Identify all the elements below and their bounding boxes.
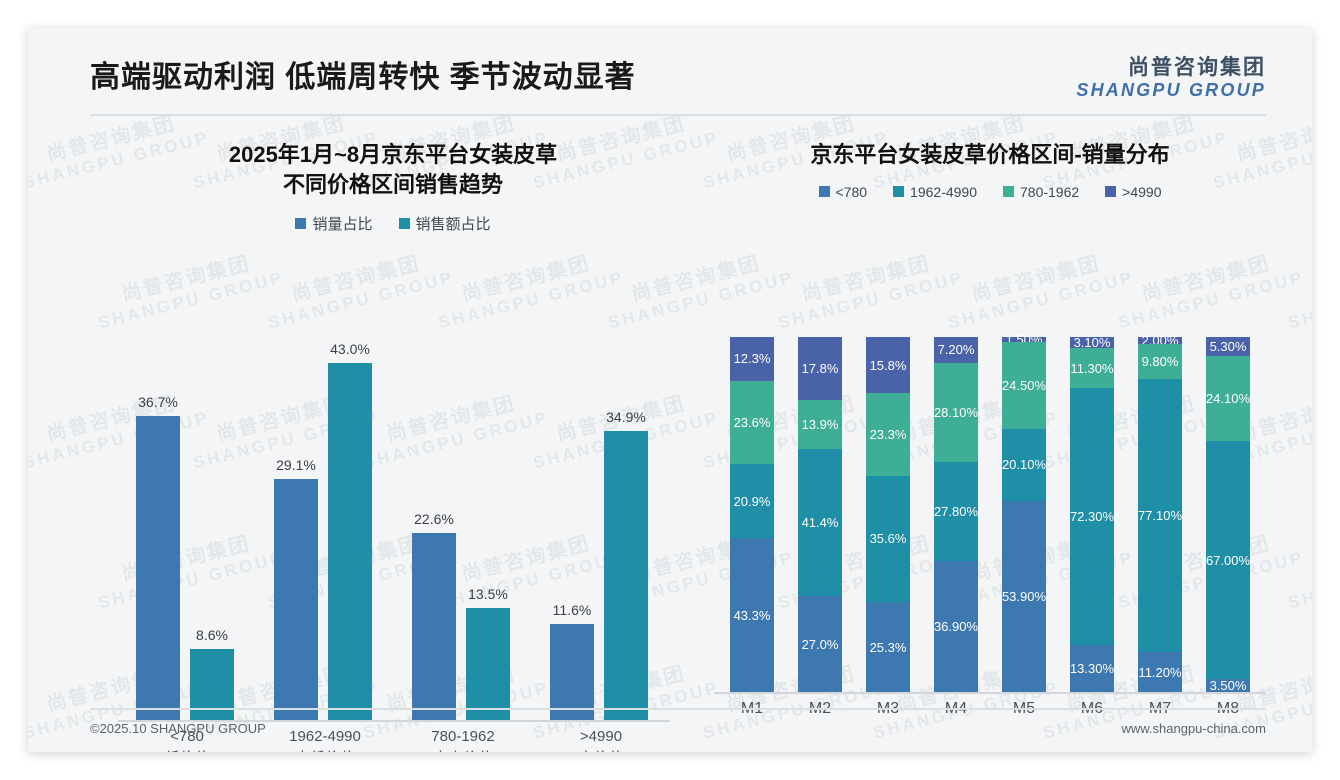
- x-tick-sublabel: (高价位): [542, 748, 660, 752]
- stacked-bar[interactable]: 2.00%9.80%77.10%11.20%: [1138, 337, 1182, 692]
- stack-segment-label: 24.50%: [1002, 378, 1046, 393]
- stack-segment-label: 27.80%: [934, 504, 978, 519]
- x-tick-range: >4990: [580, 728, 622, 745]
- bar-group: 36.7%8.6%: [128, 322, 246, 720]
- stack-segment-label: 20.10%: [1002, 457, 1046, 472]
- grouped-bar-plot-area: 36.7%8.6%<780(低价位)29.1%43.0%1962-4990(中低…: [118, 322, 670, 722]
- stack-segment-label: 5.30%: [1210, 339, 1247, 354]
- grouped-bar-chart-panel: 2025年1月~8月京东平台女装皮草 不同价格区间销售趋势 销量占比销售额占比 …: [88, 140, 698, 720]
- stack-segment[interactable]: 36.90%: [934, 561, 978, 692]
- stack-segment[interactable]: 28.10%: [934, 363, 978, 463]
- x-axis-tick-label: >4990(高价位): [542, 726, 660, 752]
- bar[interactable]: [274, 479, 318, 720]
- stack-segment-label: 3.50%: [1210, 678, 1247, 693]
- stack-segment[interactable]: 12.3%: [730, 337, 774, 381]
- stack-segment[interactable]: 72.30%: [1070, 388, 1114, 645]
- stack-segment[interactable]: 11.30%: [1070, 348, 1114, 388]
- bar-group: 11.6%34.9%: [542, 322, 660, 720]
- bar-value-label: 13.5%: [468, 586, 508, 602]
- legend-swatch-icon: [295, 218, 306, 229]
- stack-segment[interactable]: 24.10%: [1206, 356, 1250, 442]
- stack-segment[interactable]: 20.9%: [730, 464, 774, 538]
- bar[interactable]: [328, 363, 372, 720]
- logo-chinese-name: 尚普咨询集团: [1076, 56, 1266, 80]
- legend-label: >4990: [1122, 184, 1161, 200]
- bar[interactable]: [604, 431, 648, 720]
- stack-segment-label: 20.9%: [734, 494, 771, 509]
- stack-segment-label: 13.30%: [1070, 661, 1114, 676]
- legend-item[interactable]: 780-1962: [1003, 184, 1079, 200]
- legend-swatch-icon: [1105, 186, 1116, 197]
- stacked-bar[interactable]: 15.8%23.3%35.6%25.3%: [866, 337, 910, 692]
- stacked-bar[interactable]: 12.3%23.6%20.9%43.3%: [730, 337, 774, 692]
- stack-segment-label: 17.8%: [802, 361, 839, 376]
- stack-segment-label: 41.4%: [802, 515, 839, 530]
- legend-item[interactable]: 销售额占比: [399, 213, 491, 234]
- legend-item[interactable]: >4990: [1105, 184, 1161, 200]
- bar[interactable]: [412, 533, 456, 720]
- right-chart-title: 京东平台女装皮草价格区间-销量分布: [700, 140, 1280, 170]
- stack-segment[interactable]: 7.20%: [934, 337, 978, 363]
- stack-segment[interactable]: 27.80%: [934, 462, 978, 561]
- stack-segment[interactable]: 77.10%: [1138, 379, 1182, 652]
- stack-segment-label: 9.80%: [1142, 354, 1179, 369]
- watermark-text: 尚普咨询集团SHANGPU GROUP: [1281, 246, 1312, 334]
- legend-item[interactable]: 销量占比: [295, 213, 372, 234]
- stack-segment[interactable]: 9.80%: [1138, 344, 1182, 379]
- stack-segment-label: 53.90%: [1002, 589, 1046, 604]
- right-chart-legend: <7801962-4990780-1962>4990: [700, 184, 1280, 200]
- left-chart-title-line2: 不同价格区间销售趋势: [88, 170, 698, 200]
- stack-segment-label: 7.20%: [938, 342, 975, 357]
- right-chart-x-axis: [714, 692, 1266, 694]
- stack-segment-label: 15.8%: [870, 358, 907, 373]
- stack-segment[interactable]: 3.50%: [1206, 679, 1250, 691]
- x-axis-tick-label: 780-1962(中高价位): [404, 726, 522, 752]
- bar-group: 29.1%43.0%: [266, 322, 384, 720]
- legend-swatch-icon: [819, 186, 830, 197]
- slide-header: 高端驱动利润 低端周转快 季节波动显著 尚普咨询集团 SHANGPU GROUP: [28, 28, 1312, 116]
- slide-canvas: 尚普咨询集团SHANGPU GROUP尚普咨询集团SHANGPU GROUP尚普…: [28, 28, 1312, 752]
- stack-segment-label: 25.3%: [870, 640, 907, 655]
- stack-segment-label: 67.00%: [1206, 553, 1250, 568]
- x-tick-sublabel: (中低价位): [266, 748, 384, 752]
- stacked-bar[interactable]: 1.50%24.50%20.10%53.90%: [1002, 337, 1046, 692]
- stack-segment[interactable]: 15.8%: [866, 337, 910, 393]
- legend-swatch-icon: [1003, 186, 1014, 197]
- legend-swatch-icon: [893, 186, 904, 197]
- footer-website: www.shangpu-china.com: [1121, 721, 1266, 736]
- stack-segment[interactable]: 17.8%: [798, 337, 842, 400]
- stack-segment[interactable]: 53.90%: [1002, 501, 1046, 692]
- x-tick-sublabel: (中高价位): [404, 748, 522, 752]
- left-chart-title: 2025年1月~8月京东平台女装皮草 不同价格区间销售趋势: [88, 140, 698, 199]
- bar[interactable]: [466, 608, 510, 720]
- stack-segment-label: 27.0%: [802, 637, 839, 652]
- x-axis-tick-label: 1962-4990(中低价位): [266, 726, 384, 752]
- stack-segment-label: 24.10%: [1206, 391, 1250, 406]
- stack-segment-label: 36.90%: [934, 619, 978, 634]
- bar-value-label: 34.9%: [606, 409, 646, 425]
- left-chart-title-line1: 2025年1月~8月京东平台女装皮草: [229, 142, 557, 167]
- bar-value-label: 43.0%: [330, 341, 370, 357]
- footer-divider: [90, 708, 1266, 710]
- footer-copyright: ©2025.10 SHANGPU GROUP: [90, 721, 266, 736]
- legend-item[interactable]: <780: [819, 184, 868, 200]
- x-tick-range: 780-1962: [431, 728, 494, 745]
- stack-segment-label: 13.9%: [802, 417, 839, 432]
- legend-label: 销量占比: [312, 213, 372, 234]
- watermark-text: 尚普咨询集团SHANGPU GROUP: [1281, 526, 1312, 614]
- stack-segment-label: 72.30%: [1070, 509, 1114, 524]
- bar-group: 22.6%13.5%: [404, 322, 522, 720]
- stack-segment[interactable]: 23.3%: [866, 393, 910, 476]
- bar[interactable]: [136, 416, 180, 720]
- stack-segment-label: 28.10%: [934, 405, 978, 420]
- stack-segment-label: 11.30%: [1070, 361, 1113, 376]
- logo-english-name: SHANGPU GROUP: [1076, 80, 1266, 101]
- stack-segment[interactable]: 25.3%: [866, 602, 910, 692]
- stack-segment[interactable]: 20.10%: [1002, 429, 1046, 500]
- bar[interactable]: [550, 624, 594, 720]
- legend-label: 1962-4990: [910, 184, 977, 200]
- stack-segment[interactable]: 24.50%: [1002, 342, 1046, 429]
- stack-segment[interactable]: 11.20%: [1138, 652, 1182, 692]
- stack-segment[interactable]: 13.9%: [798, 400, 842, 449]
- stacked-bar[interactable]: 17.8%13.9%41.4%27.0%: [798, 337, 842, 692]
- stacked-bar[interactable]: 7.20%28.10%27.80%36.90%: [934, 337, 978, 692]
- stack-segment-label: 43.3%: [734, 608, 771, 623]
- stack-segment[interactable]: 13.30%: [1070, 645, 1114, 692]
- stack-segment-label: 77.10%: [1138, 508, 1182, 523]
- stack-segment[interactable]: 67.00%: [1206, 441, 1250, 679]
- stacked-bar-plot-area: 12.3%23.6%20.9%43.3%M117.8%13.9%41.4%27.…: [714, 300, 1266, 720]
- stack-segment[interactable]: 27.0%: [798, 596, 842, 692]
- stacked-bar[interactable]: 5.30%24.10%67.00%3.50%: [1206, 337, 1250, 692]
- stack-segment[interactable]: 35.6%: [866, 476, 910, 602]
- company-logo: 尚普咨询集团 SHANGPU GROUP: [1076, 56, 1266, 101]
- legend-swatch-icon: [399, 218, 410, 229]
- bar-value-label: 11.6%: [553, 602, 592, 618]
- bar-value-label: 29.1%: [276, 457, 316, 473]
- bar-value-label: 8.6%: [196, 627, 228, 643]
- stack-segment-label: 11.20%: [1138, 665, 1181, 680]
- bar-value-label: 36.7%: [138, 394, 178, 410]
- legend-label: 销售额占比: [416, 213, 491, 234]
- x-tick-sublabel: (低价位): [128, 748, 246, 752]
- stack-segment[interactable]: 3.10%: [1070, 337, 1114, 348]
- stack-segment[interactable]: 23.6%: [730, 381, 774, 465]
- stacked-bar[interactable]: 3.10%11.30%72.30%13.30%: [1070, 337, 1114, 692]
- left-chart-legend: 销量占比销售额占比: [88, 213, 698, 234]
- stack-segment[interactable]: 41.4%: [798, 449, 842, 596]
- legend-label: <780: [836, 184, 868, 200]
- header-divider: [90, 114, 1266, 116]
- page-title: 高端驱动利润 低端周转快 季节波动显著: [90, 52, 636, 96]
- stack-segment-label: 35.6%: [870, 531, 907, 546]
- stack-segment-label: 23.6%: [734, 415, 771, 430]
- legend-label: 780-1962: [1020, 184, 1079, 200]
- stack-segment-label: 23.3%: [870, 427, 907, 442]
- stacked-bar-chart-panel: 京东平台女装皮草价格区间-销量分布 <7801962-4990780-1962>…: [700, 140, 1280, 720]
- bar-value-label: 22.6%: [414, 511, 454, 527]
- stack-segment[interactable]: 5.30%: [1206, 337, 1250, 356]
- stack-segment[interactable]: 43.3%: [730, 538, 774, 692]
- legend-item[interactable]: 1962-4990: [893, 184, 977, 200]
- stack-segment[interactable]: 2.00%: [1138, 337, 1182, 344]
- stack-segment-label: 12.3%: [734, 351, 771, 366]
- x-tick-range: 1962-4990: [289, 728, 361, 745]
